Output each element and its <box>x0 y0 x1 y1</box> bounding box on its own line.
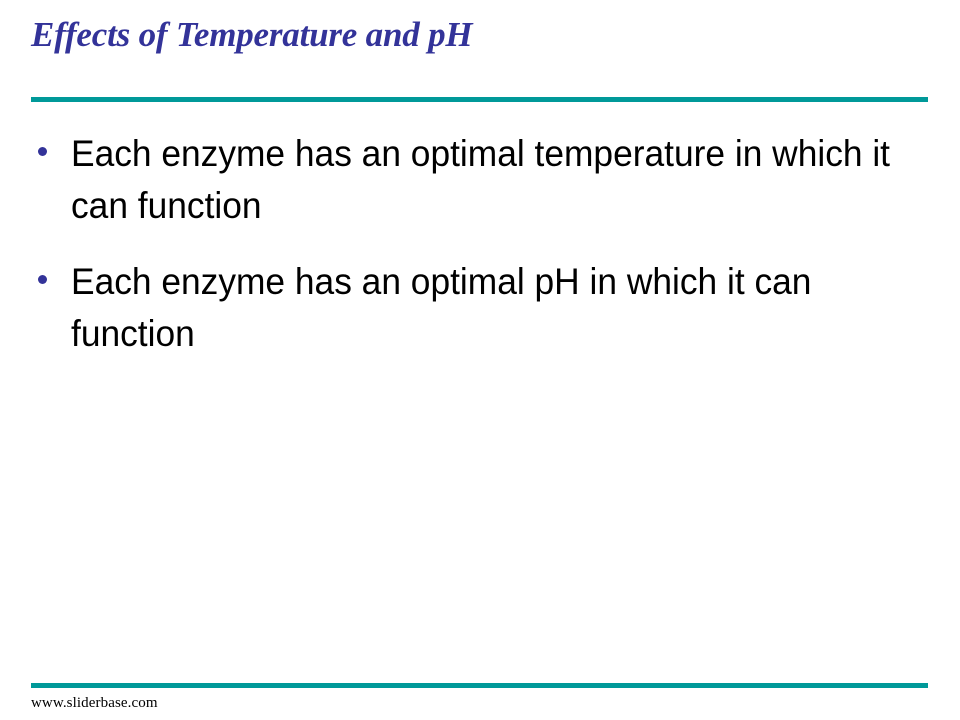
bullet-list: Each enzyme has an optimal temperature i… <box>0 128 960 384</box>
footer-divider-rule <box>31 683 928 688</box>
presentation-slide: Effects of Temperature and pH Each enzym… <box>0 0 960 720</box>
list-item: Each enzyme has an optimal temperature i… <box>0 128 960 232</box>
page-title: Effects of Temperature and pH <box>31 14 931 56</box>
bullet-dot-icon <box>38 147 47 156</box>
footer-source-url: www.sliderbase.com <box>31 694 158 712</box>
list-item: Each enzyme has an optimal pH in which i… <box>0 256 960 360</box>
list-item-text: Each enzyme has an optimal pH in which i… <box>71 256 901 360</box>
list-item-text: Each enzyme has an optimal temperature i… <box>71 128 901 232</box>
bullet-dot-icon <box>38 275 47 284</box>
title-divider-rule <box>31 97 928 102</box>
